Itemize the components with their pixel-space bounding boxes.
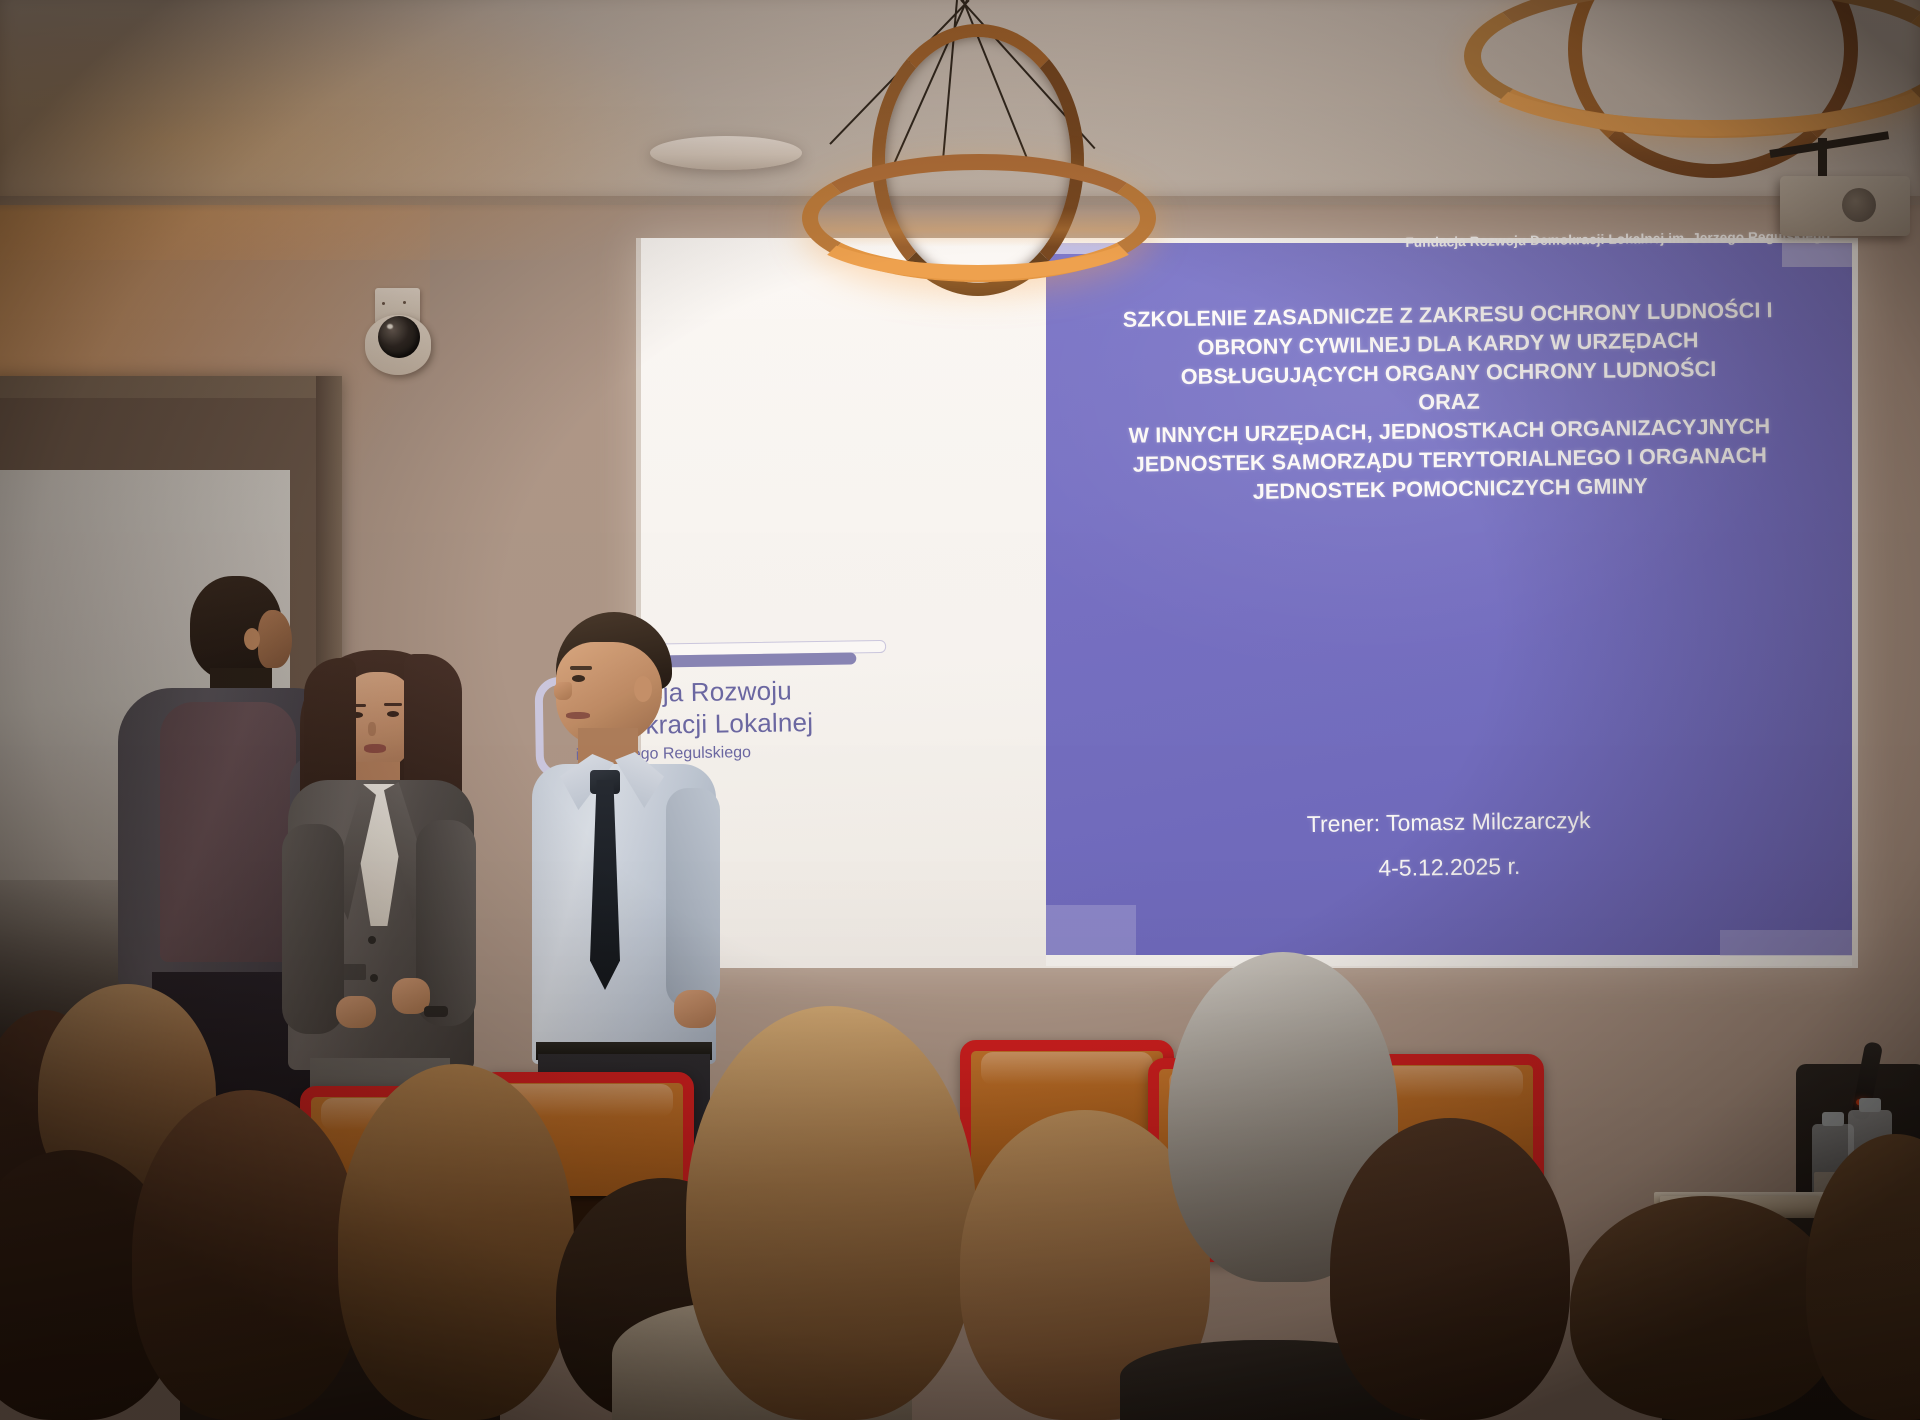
slide-title-block: SZKOLENIE ZASADNICZE Z ZAKRESU OCHRONY L…	[1045, 294, 1854, 509]
eyebrow	[384, 703, 402, 706]
wristwatch	[424, 1006, 448, 1017]
slide-accent-bottom-right	[1720, 930, 1852, 956]
speaker-woman	[288, 644, 474, 1094]
slide-trainer-block: Trener: Tomasz Milczarczyk 4-5.12.2025 r…	[1045, 794, 1852, 896]
security-camera-icon	[378, 316, 420, 358]
arm-left	[282, 824, 344, 1034]
nose	[368, 722, 376, 736]
hand-left	[336, 996, 376, 1028]
audience-head	[1570, 1196, 1840, 1420]
slide-accent-top-right	[1782, 243, 1852, 267]
hand-right	[674, 990, 716, 1028]
face	[258, 610, 292, 668]
eye	[387, 711, 399, 717]
ceiling-edge	[0, 196, 1920, 212]
audience-head	[338, 1064, 574, 1420]
projector-mount	[1818, 138, 1827, 180]
ear	[634, 676, 652, 702]
eyebrow	[570, 666, 592, 670]
eye	[572, 675, 585, 682]
audience-head	[132, 1090, 362, 1420]
door-jamb-top	[0, 376, 342, 398]
audience-head	[686, 1006, 976, 1420]
ceiling	[0, 0, 1920, 205]
bottle-cap	[1822, 1112, 1844, 1126]
button	[368, 936, 376, 944]
ear	[244, 628, 260, 650]
button	[370, 974, 378, 982]
nose	[554, 682, 572, 700]
slide-accent-bottom-left	[1046, 905, 1136, 955]
speaker-man	[530, 612, 716, 1082]
slide-footer-strip	[1046, 955, 1852, 966]
photo-scene: Fundacja Rozwoju Demokracji Lokalnej im.…	[0, 0, 1920, 1420]
chair-highlight	[981, 1052, 1152, 1085]
mouth	[364, 744, 386, 753]
audience-head	[1330, 1118, 1570, 1420]
arm-right	[666, 788, 720, 1008]
projector-icon	[1780, 176, 1910, 236]
mouth	[566, 712, 590, 719]
bottle-cap	[1859, 1098, 1881, 1112]
vest	[160, 702, 296, 962]
ceiling-lamp-icon	[650, 136, 802, 170]
